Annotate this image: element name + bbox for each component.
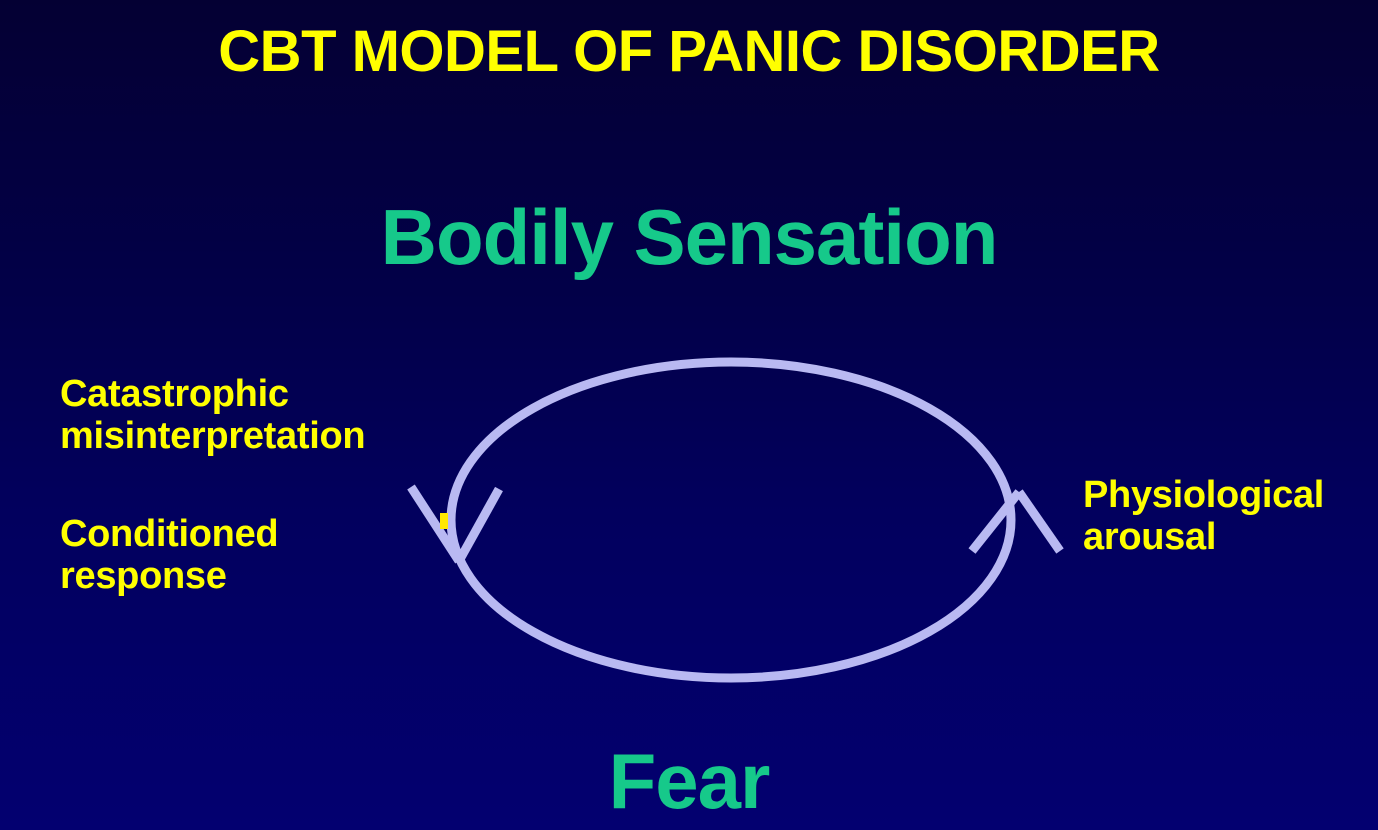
label-catastrophic-line2: misinterpretation	[60, 416, 490, 458]
label-conditioned-line1: Conditioned	[60, 514, 490, 556]
label-catastrophic-line1: Catastrophic	[60, 374, 490, 416]
label-physiological-arousal: Physiological arousal	[1083, 475, 1378, 559]
cycle-ellipse	[451, 362, 1011, 678]
label-conditioned-response: Conditioned response	[60, 514, 490, 598]
label-physiological-line2: arousal	[1083, 517, 1378, 559]
slide-canvas: CBT MODEL OF PANIC DISORDER Bodily Sensa…	[0, 0, 1378, 830]
node-bodily-sensation: Bodily Sensation	[0, 198, 1378, 276]
label-conditioned-line2: response	[60, 556, 490, 598]
page-title: CBT MODEL OF PANIC DISORDER	[0, 22, 1378, 83]
node-fear: Fear	[0, 742, 1378, 820]
label-catastrophic-misinterpretation: Catastrophic misinterpretation	[60, 374, 490, 458]
arrow-up-right-icon	[972, 492, 1060, 551]
label-physiological-line1: Physiological	[1083, 475, 1378, 517]
